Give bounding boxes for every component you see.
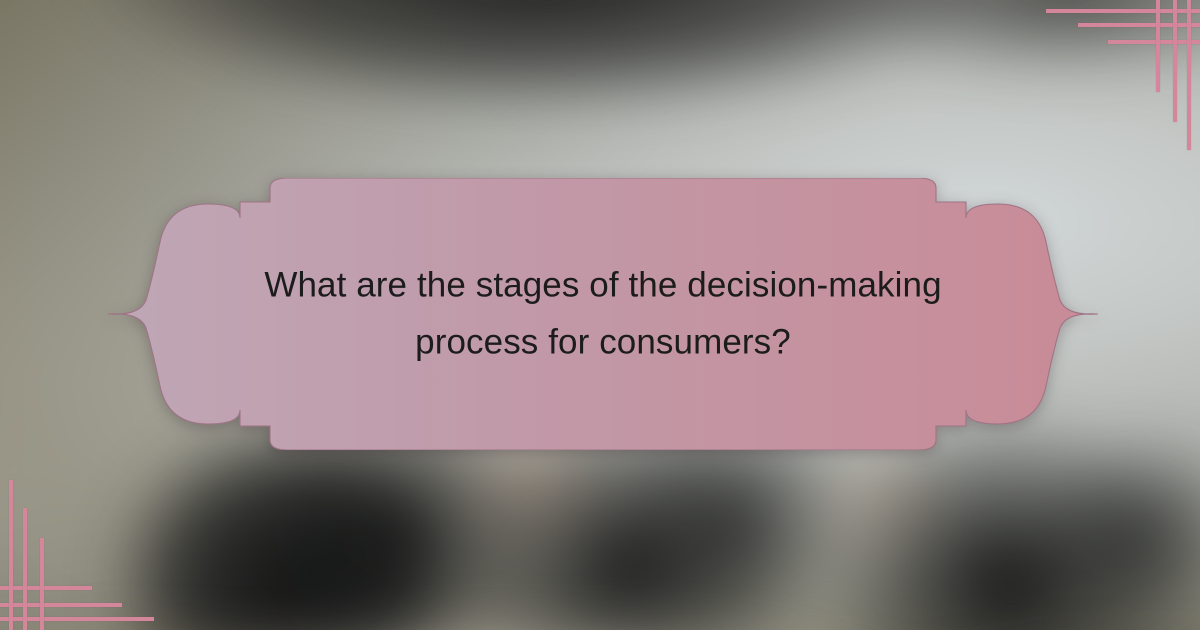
question-card-image: What are the stages of the decision-maki…: [0, 0, 1200, 630]
ornament-line-horizontal-2: [1078, 23, 1200, 27]
ornament-line-vertical-1: [1187, 0, 1191, 150]
corner-ornament-bottom-left: [0, 470, 160, 630]
ornament-line-vertical-3: [1156, 0, 1160, 92]
question-text: What are the stages of the decision-maki…: [218, 257, 988, 370]
ornament-line-horizontal-3: [0, 586, 92, 590]
ornament-line-horizontal-2: [0, 603, 122, 607]
ornament-line-vertical-3: [40, 538, 44, 630]
ornament-line-vertical-1: [9, 480, 13, 630]
ornament-line-vertical-2: [23, 508, 27, 630]
ornament-line-vertical-2: [1173, 0, 1177, 122]
corner-ornament-top-right: [1040, 0, 1200, 160]
question-card: What are the stages of the decision-maki…: [108, 178, 1098, 450]
